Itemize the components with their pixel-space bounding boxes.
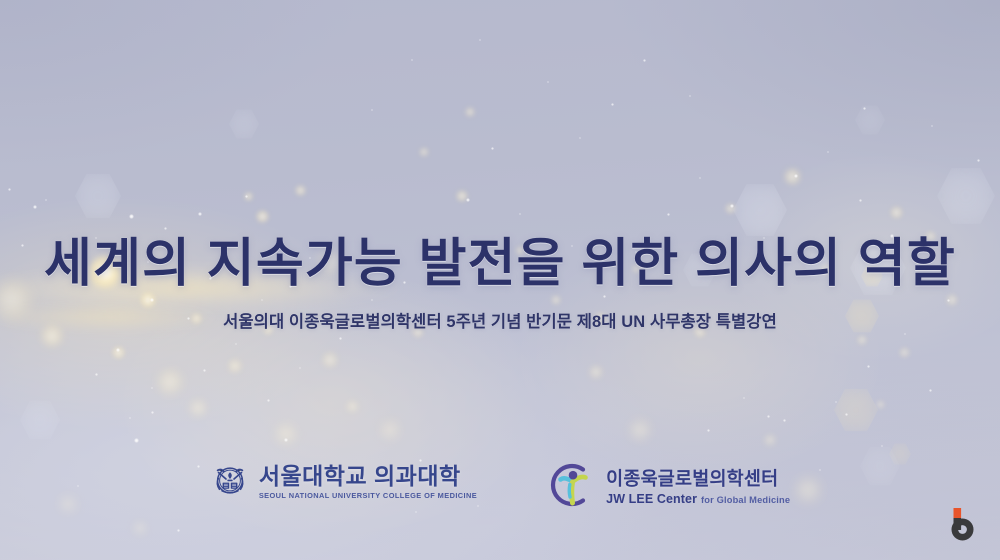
snu-seal-icon [210,460,250,505]
jw-lee-figure-icon [547,460,597,515]
logo-row: 서울대학교 의과대학 SEOUL NATIONAL UNIVERSITY COL… [0,460,1000,515]
snu-korean-name: 서울대학교 의과대학 [259,465,477,488]
snu-english-name: SEOUL NATIONAL UNIVERSITY COLLEGE OF MED… [259,492,477,499]
jw-lee-english-row: JW LEE Center for Global Medicine [606,493,790,506]
jw-lee-logo: 이종욱글로벌의학센터 JW LEE Center for Global Medi… [547,460,790,515]
b-logo-icon [940,502,984,546]
jw-lee-english-name-bold: JW LEE Center [606,493,697,506]
page-title: 세계의 지속가능 발전을 위한 의사의 역할 [0,236,1000,292]
title-block: 세계의 지속가능 발전을 위한 의사의 역할 서울의대 이종욱글로벌의학센터 5… [0,236,1000,332]
snu-logo: 서울대학교 의과대학 SEOUL NATIONAL UNIVERSITY COL… [210,460,477,505]
title-slide: 세계의 지속가능 발전을 위한 의사의 역할 서울의대 이종욱글로벌의학센터 5… [0,0,1000,560]
jw-lee-korean-name: 이종욱글로벌의학센터 [606,470,790,489]
snu-logo-text: 서울대학교 의과대학 SEOUL NATIONAL UNIVERSITY COL… [259,465,477,499]
jw-lee-english-name-light: for Global Medicine [701,496,790,505]
jw-lee-logo-text: 이종욱글로벌의학센터 JW LEE Center for Global Medi… [606,470,790,505]
page-subtitle: 서울의대 이종욱글로벌의학센터 5주년 기념 반기문 제8대 UN 사무총장 특… [0,308,1000,332]
